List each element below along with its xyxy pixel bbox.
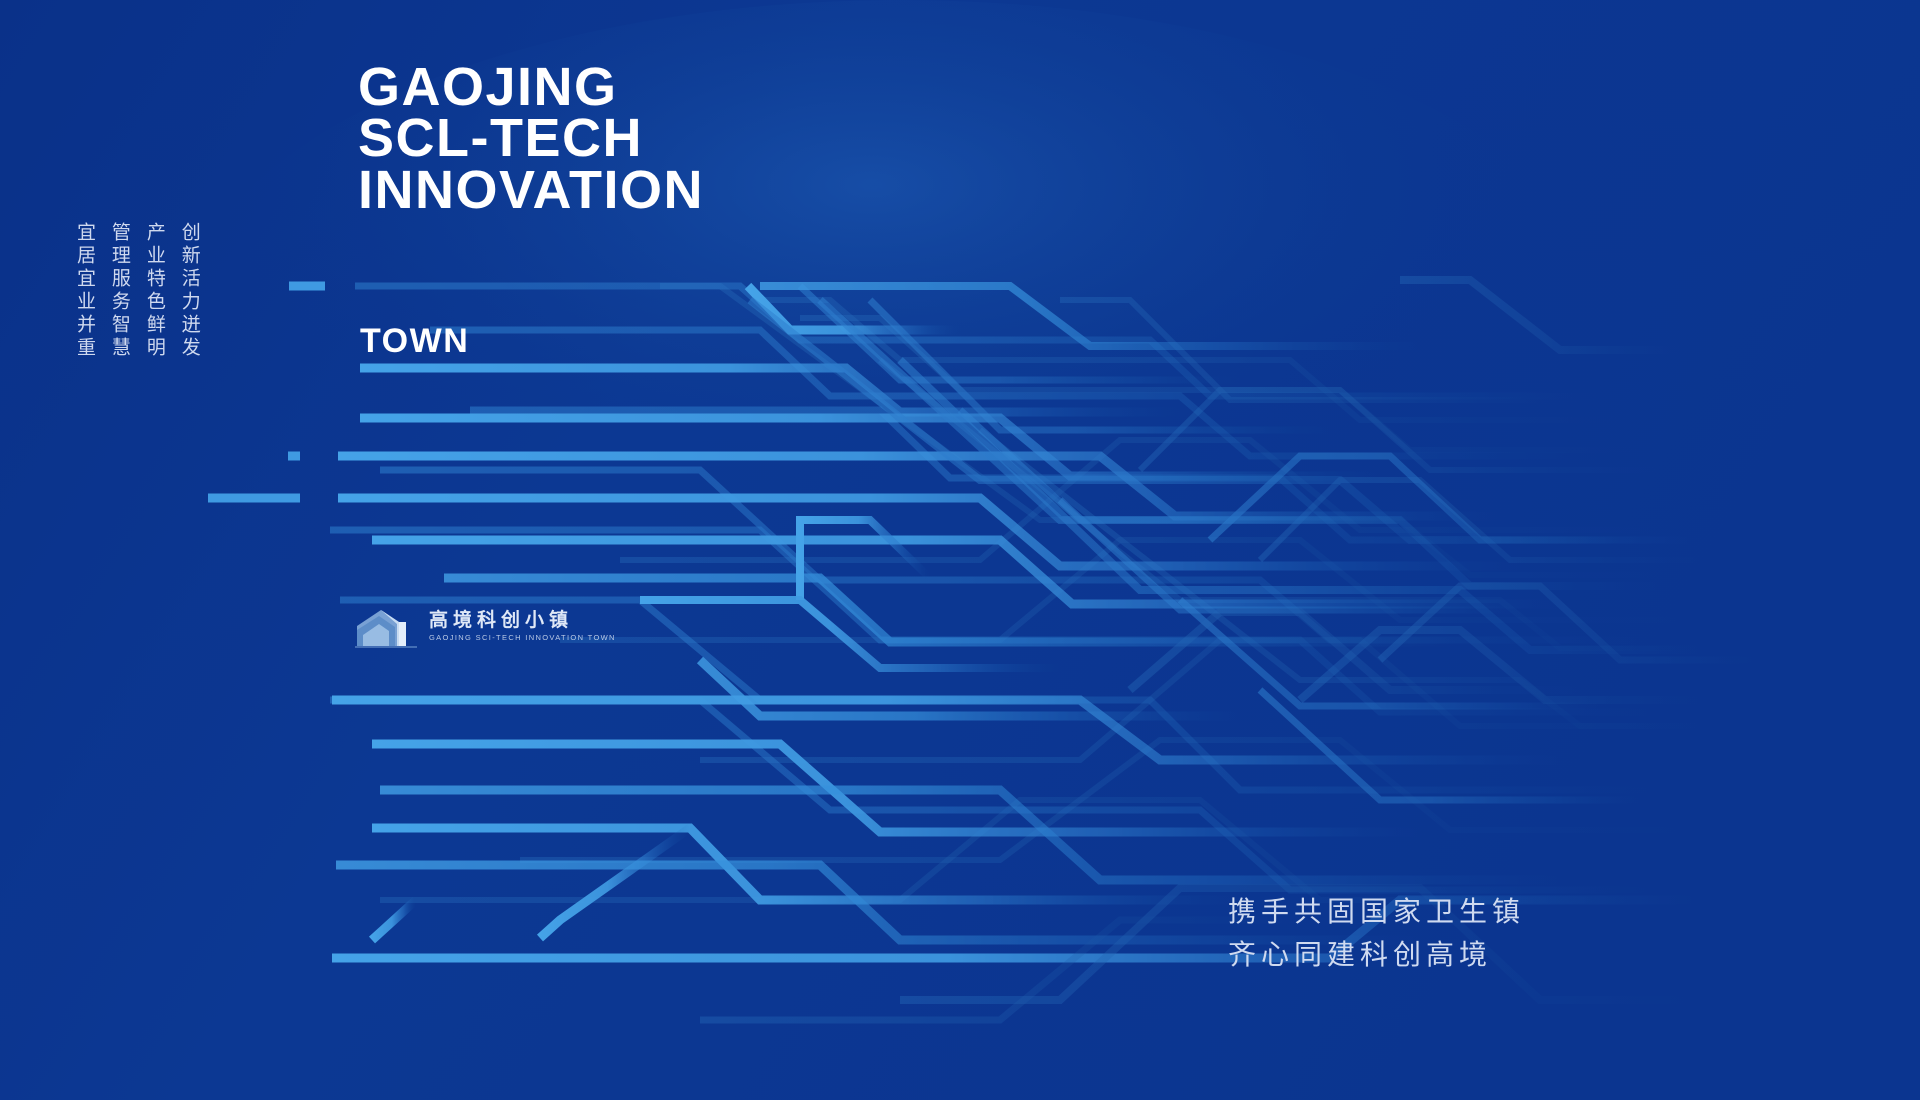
logo-text-block: 高境科创小镇 GAOJING SCI-TECH INNOVATION TOWN xyxy=(429,610,616,642)
headline-line-4: TOWN xyxy=(360,322,469,361)
vertical-slogan-col-3: 管理服务智慧 xyxy=(109,222,129,360)
bottom-slogan: 携手共固国家卫生镇 齐心同建科创高境 xyxy=(1228,890,1525,977)
vertical-slogan-col-4: 宜居宜业并重 xyxy=(74,222,94,360)
house-building-icon xyxy=(355,604,417,648)
bottom-slogan-line-1: 携手共固国家卫生镇 xyxy=(1228,890,1525,933)
vertical-slogan: 创新活力迸发 产业特色鲜明 管理服务智慧 宜居宜业并重 xyxy=(74,222,199,360)
logo-name-en: GAOJING SCI-TECH INNOVATION TOWN xyxy=(429,633,616,642)
logo-name-cn: 高境科创小镇 xyxy=(429,610,616,631)
circuit-trace-background xyxy=(0,0,1920,1100)
brand-logo: 高境科创小镇 GAOJING SCI-TECH INNOVATION TOWN xyxy=(355,604,616,648)
headline-line-2: SCL-TECH xyxy=(358,113,704,164)
vertical-slogan-col-1: 创新活力迸发 xyxy=(179,222,199,360)
vertical-slogan-col-2: 产业特色鲜明 xyxy=(144,222,164,360)
headline-line-1: GAOJING xyxy=(358,62,704,113)
poster-canvas: 创新活力迸发 产业特色鲜明 管理服务智慧 宜居宜业并重 GAOJING SCL-… xyxy=(0,0,1920,1100)
bottom-slogan-line-2: 齐心同建科创高境 xyxy=(1228,933,1525,976)
headline-line-3: INNOVATION xyxy=(358,165,704,216)
page-title: GAOJING SCL-TECH INNOVATION xyxy=(358,62,704,216)
